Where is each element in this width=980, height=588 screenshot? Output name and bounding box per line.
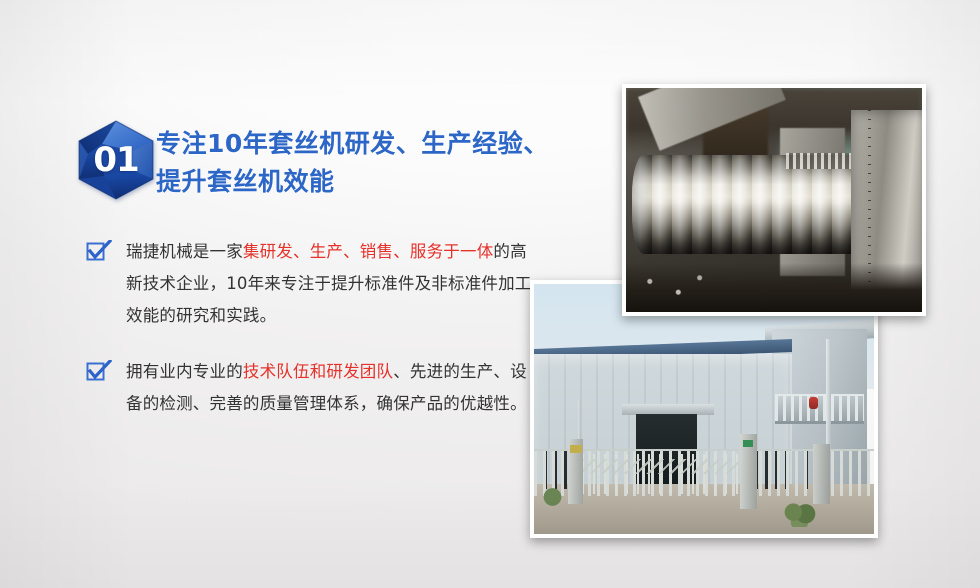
badge-number: 01: [74, 118, 158, 202]
list-item: 瑞捷机械是一家集研发、生产、销售、服务于一体的高新技术企业，10年来专注于提升标…: [86, 236, 536, 332]
text-highlight-1: 技术队伍和研发团队: [243, 362, 393, 381]
text-highlight-1: 集研发、生产、销售、服务于一体: [243, 242, 494, 261]
list-item-text: 拥有业内专业的技术队伍和研发团队、先进的生产、设备的检测、完善的质量管理体系，确…: [126, 356, 536, 420]
list-item: 拥有业内专业的技术队伍和研发团队、先进的生产、设备的检测、完善的质量管理体系，确…: [86, 356, 536, 420]
checkbox-checked-icon: [86, 240, 112, 264]
checkbox-checked-icon: [86, 360, 112, 384]
factory-photo-image: [534, 284, 874, 534]
list-item-text: 瑞捷机械是一家集研发、生产、销售、服务于一体的高新技术企业，10年来专注于提升标…: [126, 236, 536, 332]
text-plain-1: 拥有业内专业的: [126, 362, 243, 381]
feature-list: 瑞捷机械是一家集研发、生产、销售、服务于一体的高新技术企业，10年来专注于提升标…: [86, 236, 536, 444]
step-number-badge: 01: [74, 118, 158, 202]
page-title: 专注10年套丝机研发、生产经验、 提升套丝机效能: [156, 125, 556, 201]
page-title-line2: 提升套丝机效能: [156, 163, 556, 201]
factory-photo: [530, 280, 878, 538]
promo-banner: 01 专注10年套丝机研发、生产经验、 提升套丝机效能 瑞捷机械是一家集研发、生…: [0, 0, 980, 588]
text-plain-1: 瑞捷机械是一家: [126, 242, 243, 261]
content-column: 01 专注10年套丝机研发、生产经验、 提升套丝机效能 瑞捷机械是一家集研发、生…: [0, 0, 560, 588]
threading-photo: [622, 84, 926, 316]
page-title-line1: 专注10年套丝机研发、生产经验、: [156, 129, 549, 158]
threading-photo-image: [626, 88, 922, 312]
